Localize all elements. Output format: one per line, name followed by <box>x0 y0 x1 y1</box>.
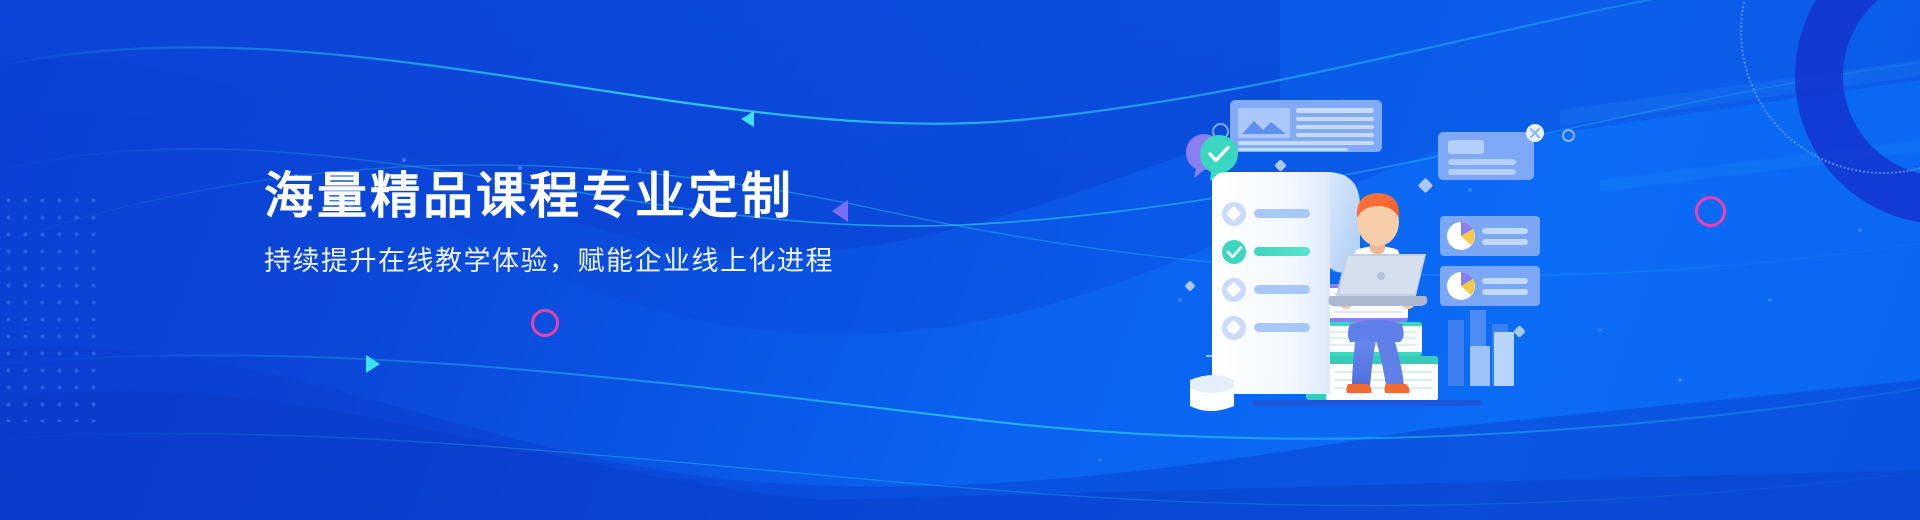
pie-chart-card-1 <box>1440 216 1540 256</box>
pink-ring-decoration <box>531 309 559 337</box>
pink-ring-right-decoration <box>1695 196 1726 227</box>
bar-chart-decoration <box>1448 310 1514 386</box>
article-card <box>1230 100 1382 152</box>
play-triangle-icon <box>366 355 380 373</box>
page-title: 海量精品课程专业定制 <box>264 166 984 226</box>
dotted-ring-decoration <box>1740 0 1920 174</box>
online-learning-illustration <box>1130 88 1560 428</box>
promo-banner: 海量精品课程专业定制 持续提升在线教学体验，赋能企业线上化进程 <box>0 0 1920 520</box>
cyan-triangle-icon <box>741 111 754 127</box>
tiny-ring-decoration <box>1562 129 1575 142</box>
message-card <box>1438 124 1544 180</box>
banner-copy: 海量精品课程专业定制 持续提升在线教学体验，赋能企业线上化进程 <box>264 166 984 279</box>
page-subtitle: 持续提升在线教学体验，赋能企业线上化进程 <box>264 244 984 279</box>
pie-chart-card-2 <box>1440 266 1540 306</box>
dot-grid-decoration <box>0 192 96 422</box>
